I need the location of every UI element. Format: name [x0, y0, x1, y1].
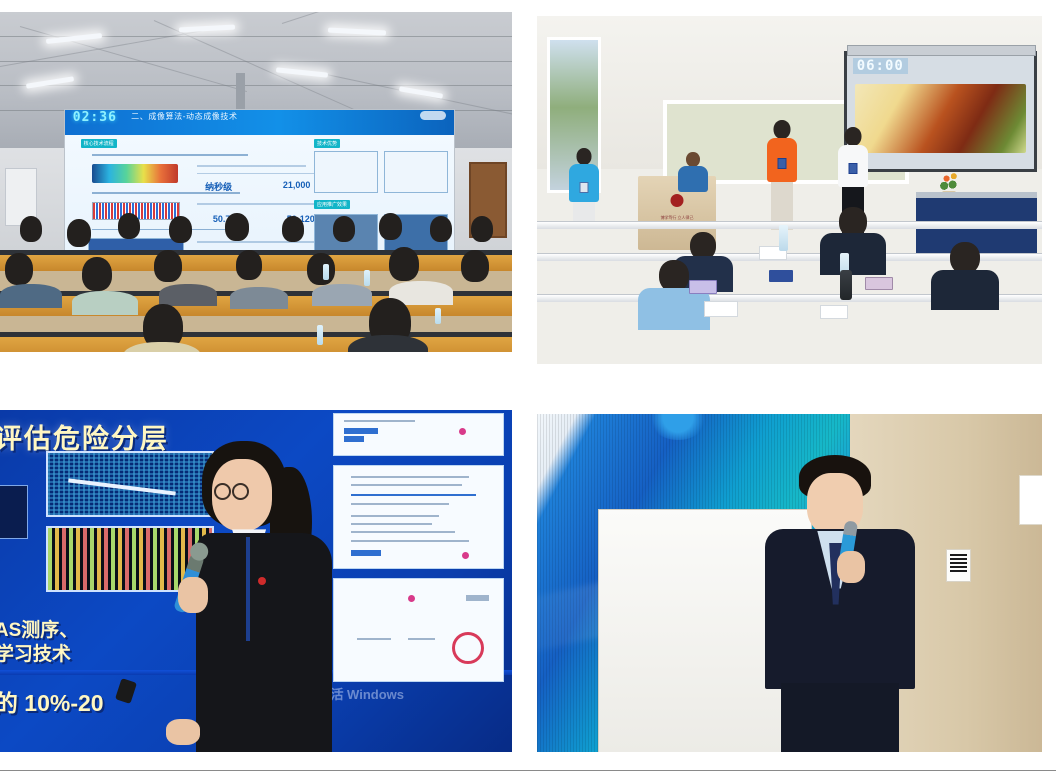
water-bottle [779, 225, 788, 251]
slide-section-label: 技术优势 [314, 139, 340, 148]
report-booklet [689, 280, 717, 294]
university-crest-icon [671, 194, 684, 207]
water-bottle [435, 308, 441, 324]
slide-metric: 21,000 [283, 180, 311, 190]
side-panel-thumbnail [0, 485, 28, 539]
audience-desk-row [0, 332, 512, 352]
audience-head [379, 213, 402, 240]
audience-head [282, 216, 304, 242]
audience-head [5, 253, 33, 285]
volunteer-figure [567, 148, 601, 228]
audience-head [154, 250, 182, 282]
schematic-thumbnail [314, 151, 378, 193]
qr-code-icon [950, 553, 967, 572]
slide-section-label: 核心技术流程 [81, 139, 117, 148]
organization-logo [420, 111, 446, 120]
audience-head [169, 216, 192, 243]
water-bottle [323, 264, 329, 280]
photo-male-presenter[interactable] [537, 414, 1042, 752]
audience-shoulders [0, 284, 62, 308]
audience-head [118, 213, 140, 239]
audience-head [307, 253, 335, 285]
slide-food-image [855, 84, 1027, 153]
audience-head [389, 247, 419, 281]
hand-holding-mic [837, 551, 865, 583]
audience-head [461, 250, 489, 282]
thermos-cup [840, 270, 852, 300]
countdown-timer: 06:00 [853, 58, 908, 74]
countdown-timer: 02:36 [73, 110, 117, 125]
page-footer-rule [0, 770, 1056, 771]
audience-shoulders [159, 284, 217, 306]
staff-figure [678, 152, 708, 192]
female-presenter [174, 437, 374, 752]
audience-head [471, 216, 493, 242]
schematic-thumbnail [384, 151, 448, 193]
audience-head [67, 219, 91, 247]
report-booklet [769, 270, 793, 282]
blazer [196, 533, 332, 752]
heatmap-thumbnail [92, 164, 178, 184]
photo-grid: 02:36 二、成像算法-动态成像技术 核心技术流程 技术优势 应用推广效果 [0, 12, 1056, 752]
screen-housing [847, 45, 1036, 56]
lectern-motto: 博学笃行 立人律己 [660, 215, 693, 221]
presenter-orange-figure [764, 120, 800, 230]
audience-head [430, 216, 452, 242]
report-booklet [865, 277, 893, 290]
audience-shoulders [312, 284, 372, 306]
water-bottle [317, 325, 323, 345]
slide-text-line: 学习技术 [0, 639, 71, 666]
notice-sheet [1019, 475, 1042, 525]
slide-title: 二、成像算法-动态成像技术 [131, 111, 237, 122]
audience-shoulders [72, 291, 138, 315]
hand-holding-mic [178, 577, 208, 613]
lanyard [246, 537, 250, 641]
audience-head [225, 213, 249, 241]
audience-head [20, 216, 42, 242]
audience-head [333, 216, 355, 242]
student-desk-row [537, 221, 1042, 229]
slide-section-label: 应用推广效果 [314, 200, 350, 209]
qr-code-poster [946, 549, 971, 582]
projection-screen: 06:00 [844, 51, 1037, 172]
document-sheet [704, 301, 738, 317]
audience-shoulders [230, 287, 288, 309]
audience-head [236, 250, 262, 280]
slide-text-line: 的 10%-20 [0, 684, 104, 718]
photo-lecture-hall[interactable]: 02:36 二、成像算法-动态成像技术 核心技术流程 技术优势 应用推广效果 [0, 12, 512, 352]
slide-text-line: AS测序、 [0, 615, 78, 642]
slide-headline: 评估危险分层 [0, 417, 169, 456]
slide-metric: 纳秒级 [205, 180, 232, 193]
hand-holding-clicker [166, 719, 200, 745]
photo-female-presenter[interactable]: 评估危险分层 AS测序、 学习技术 的 10%-20 [0, 410, 512, 752]
document-sheet [820, 305, 848, 319]
screen-header-bar: 02:36 二、成像算法-动态成像技术 [65, 110, 454, 135]
judge-figure [931, 242, 999, 308]
page-root: 02:36 二、成像算法-动态成像技术 核心技术流程 技术优势 应用推广效果 [0, 0, 1056, 774]
audience-head [82, 257, 112, 291]
male-presenter [759, 455, 929, 752]
trousers [781, 683, 899, 752]
judge-figure [820, 207, 886, 273]
water-bottle [364, 270, 370, 286]
photo-classroom-defense[interactable]: 06:00 博学笃行 立人律己 [537, 16, 1042, 364]
